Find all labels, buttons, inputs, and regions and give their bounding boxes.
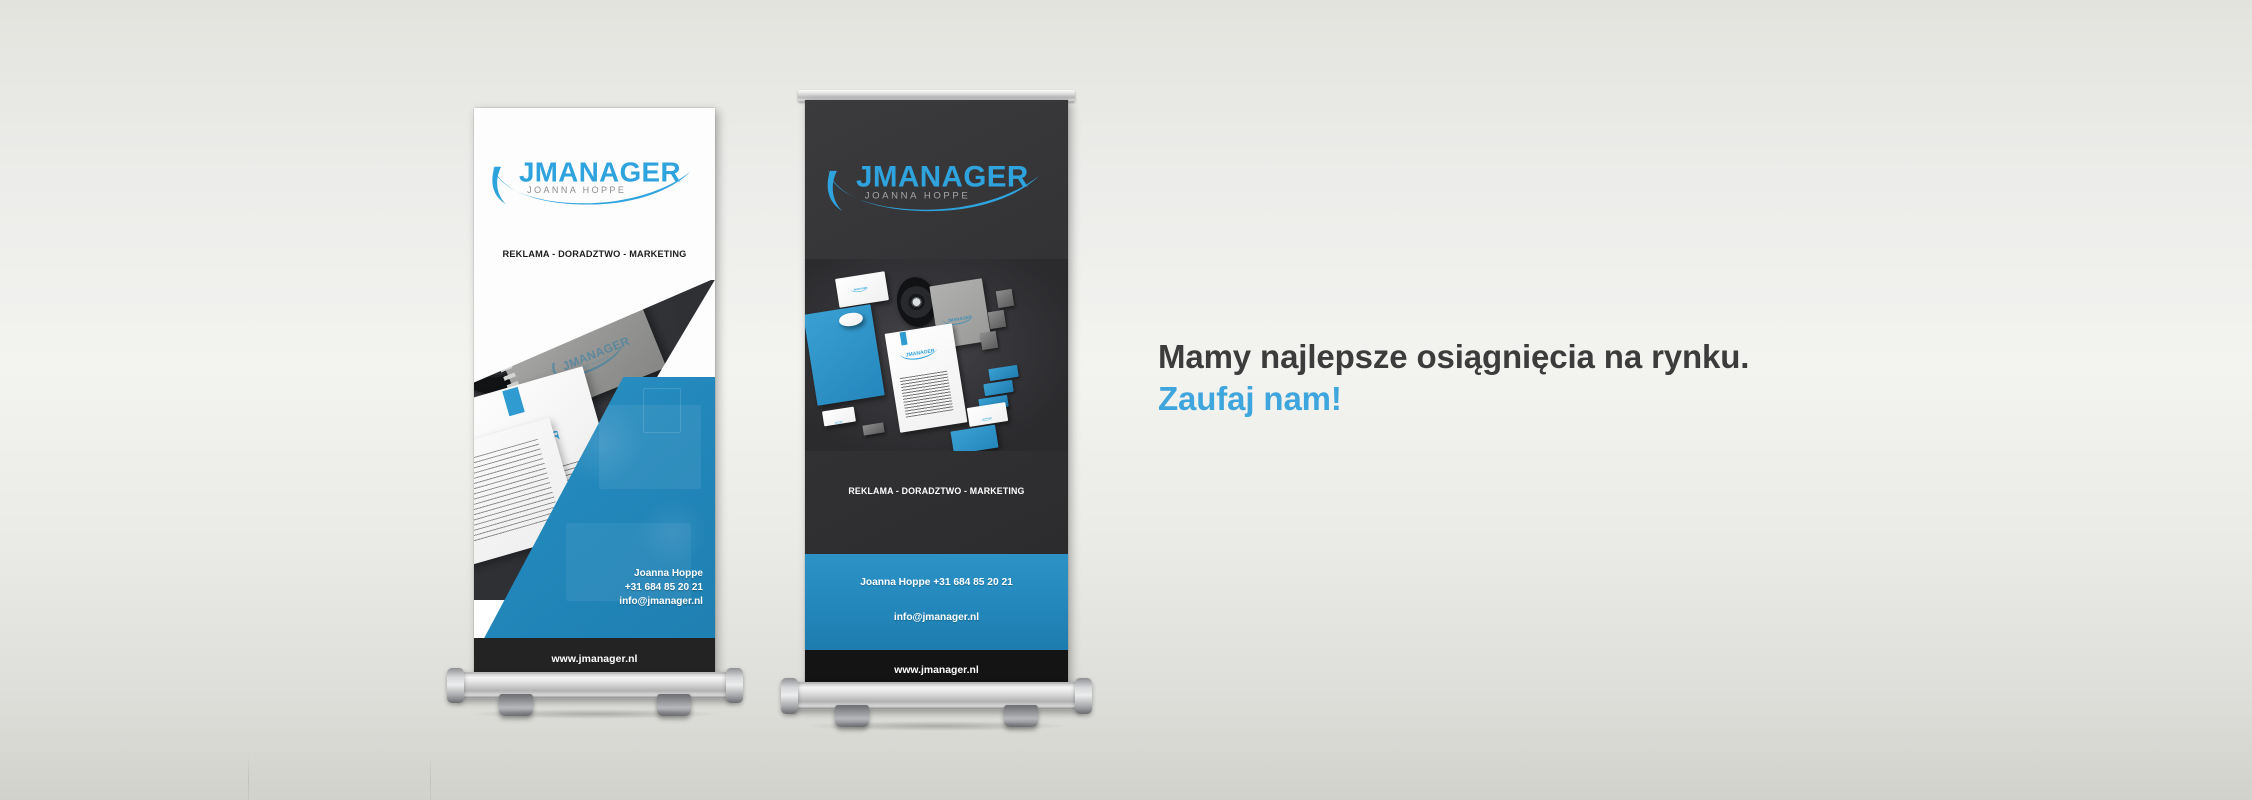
headline-line-2: Zaufaj nam!: [1158, 378, 2058, 420]
binder-clip-graphic-3: [980, 331, 998, 351]
letterhead-blue-tab: [899, 332, 906, 346]
bottom-separator-2: [430, 754, 431, 800]
rollup-banner-left: JMANAGER JOANNA HOPPE JMANAGER JOANNA HO…: [474, 108, 715, 680]
binder-clip-graphic-2: [988, 310, 1006, 330]
banner-left-tagline: REKLAMA - DORADZTWO - MARKETING: [474, 249, 715, 259]
blue-card-graphic: [951, 425, 999, 451]
rollup-endcap-right-left: [781, 678, 798, 714]
rollup-cassette-right: [789, 682, 1084, 710]
rollup-endcap-left-left: [447, 668, 464, 703]
small-card-graphic-2: JMANAGER: [822, 406, 856, 426]
rollup-cassette-left: [455, 672, 735, 699]
business-card-graphic: JMANAGER: [835, 271, 889, 307]
rollup-shadow-left: [472, 709, 718, 719]
rollup-shadow-right: [807, 721, 1067, 731]
small-card-graphic-1: JMANAGER: [967, 402, 1009, 427]
banner-left-contact-block: Joanna Hoppe +31 684 85 20 21 info@jmana…: [525, 567, 703, 610]
banner-right-blue-panel: Joanna Hoppe +31 684 85 20 21 info@jmana…: [805, 554, 1068, 650]
banner-right-tagline: REKLAMA - DORADZTWO - MARKETING: [805, 486, 1068, 496]
svg-text:JMANAGER: JMANAGER: [905, 348, 935, 359]
usb-stick-graphic-1: [988, 364, 1018, 380]
svg-text:JMANAGER: JMANAGER: [853, 286, 868, 291]
banner-right-stationery-collage: JMANAGER JMANAGER: [805, 259, 1068, 451]
usb-stick-graphic-2: [983, 380, 1013, 396]
banner-left-panel: JMANAGER JOANNA HOPPE JMANAGER JOANNA HO…: [474, 108, 715, 680]
svg-text:JMANAGER: JMANAGER: [856, 161, 1029, 194]
small-card-logo-mark-1: JMANAGER: [972, 406, 998, 415]
blue-panel-ghost-clip: [643, 388, 682, 433]
headline-block: Mamy najlepsze osiągnięcia na rynku. Zau…: [1158, 336, 2058, 420]
banner-left-contact-email: info@jmanager.nl: [525, 595, 703, 609]
banner-right-contact-line-2: info@jmanager.nl: [805, 612, 1068, 623]
rollup-banner-right: JMANAGER JOANNA HOPPE JMANAGER: [805, 100, 1068, 690]
svg-text:JMANAGER: JMANAGER: [947, 315, 973, 324]
banner-left-contact-person: Joanna Hoppe: [525, 567, 703, 581]
rollup-endcap-right-right: [1075, 678, 1092, 714]
binder-clip-graphic-1: [996, 289, 1014, 309]
svg-text:JOANNA HOPPE: JOANNA HOPPE: [528, 185, 627, 195]
svg-text:JOANNA HOPPE: JOANNA HOPPE: [865, 191, 971, 202]
business-card-logo-mark: JMANAGER: [841, 277, 875, 289]
bottom-separator-1: [248, 754, 249, 800]
headline-line-1: Mamy najlepsze osiągnięcia na rynku.: [1158, 336, 2058, 378]
banner-left-contact-phone: +31 684 85 20 21: [525, 581, 703, 595]
blue-tab-accent: [502, 386, 525, 415]
letterhead-text-lines: [900, 371, 954, 418]
svg-text:JMANAGER: JMANAGER: [835, 420, 843, 424]
rollup-base-left: [455, 672, 735, 699]
mockup-stage: JMANAGER JOANNA HOPPE JMANAGER JOANNA HO…: [0, 0, 2252, 800]
banner-right-logo: JMANAGER JOANNA HOPPE: [823, 147, 1049, 221]
banner-left-footer-url: www.jmanager.nl: [551, 654, 637, 665]
letterhead-logo-mark: JMANAGER: [896, 342, 939, 364]
banner-right-contact-line-1: Joanna Hoppe +31 684 85 20 21: [805, 577, 1068, 588]
banner-left-logo: JMANAGER JOANNA HOPPE: [488, 139, 700, 219]
banner-right-panel: JMANAGER JOANNA HOPPE JMANAGER: [805, 100, 1068, 690]
svg-text:JMANAGER: JMANAGER: [519, 156, 681, 187]
usb-cap-graphic: [862, 423, 884, 436]
banner-right-footer-url: www.jmanager.nl: [894, 665, 979, 676]
rollup-base-right: [789, 682, 1084, 710]
rollup-endcap-left-right: [726, 668, 743, 703]
small-card-logo-mark-2: JMANAGER: [826, 410, 847, 417]
